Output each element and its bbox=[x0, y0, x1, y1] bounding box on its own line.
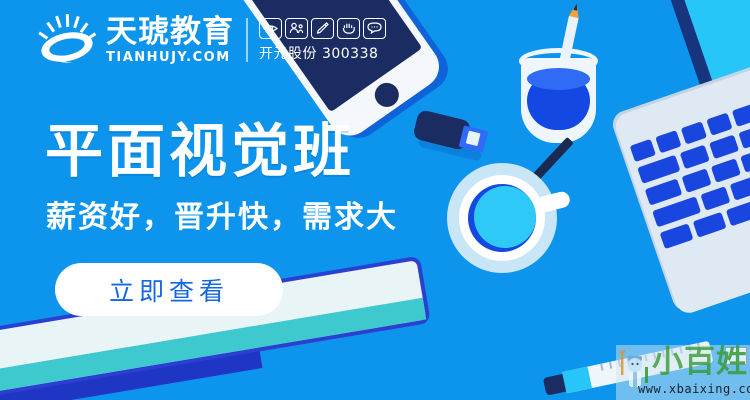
laptop-key bbox=[730, 176, 750, 201]
brand-name-cn: 天琥教育 bbox=[106, 17, 234, 48]
logo-divider bbox=[246, 18, 248, 62]
page-title: 平面视觉班 bbox=[45, 122, 355, 180]
subtitle: 薪资好，晋升快，需求大 bbox=[46, 203, 398, 233]
eye-icon bbox=[259, 18, 282, 39]
laptop-key bbox=[700, 186, 730, 211]
logo-row[interactable]: 天琥教育 TIANHUJY.COM bbox=[38, 14, 386, 66]
sunrise-logo-icon bbox=[38, 14, 100, 66]
speech-bubble-icon bbox=[363, 18, 386, 39]
pen-ruler-tick bbox=[609, 362, 612, 369]
smartphone-home-button bbox=[370, 78, 403, 111]
laptop-key bbox=[711, 158, 741, 183]
laptop-key bbox=[682, 168, 712, 193]
laptop-key bbox=[693, 212, 727, 238]
laptop-key bbox=[680, 145, 710, 170]
stock-block: 开元股份 300338 bbox=[259, 18, 386, 63]
pen-cap bbox=[562, 367, 592, 394]
laptop-key bbox=[660, 223, 694, 249]
pen-ruler-tick bbox=[600, 364, 603, 371]
laptop-key bbox=[726, 200, 750, 226]
watermark-brand: 小百姓 bbox=[652, 347, 748, 378]
pencil-icon bbox=[311, 18, 334, 39]
pencil-cup-water-surface bbox=[527, 68, 590, 90]
coffee-liquid bbox=[474, 186, 536, 248]
watermark: 小百姓 www.xbaixing.com bbox=[616, 345, 750, 400]
laptop-key bbox=[738, 124, 750, 149]
feature-icon-row bbox=[259, 18, 386, 39]
stock-code-text: 开元股份 300338 bbox=[259, 43, 386, 63]
watermark-url: www.xbaixing.com bbox=[638, 382, 750, 396]
hand-icon bbox=[337, 18, 360, 39]
brand-name-en: TIANHUJY.COM bbox=[106, 51, 234, 64]
promo-banner: 天琥教育 TIANHUJY.COM bbox=[0, 0, 750, 400]
laptop-key bbox=[709, 135, 739, 160]
brand-text: 天琥教育 TIANHUJY.COM bbox=[106, 17, 234, 64]
people-icon bbox=[285, 18, 308, 39]
view-now-button[interactable]: 立即查看 bbox=[55, 263, 283, 316]
laptop-key bbox=[740, 148, 750, 173]
